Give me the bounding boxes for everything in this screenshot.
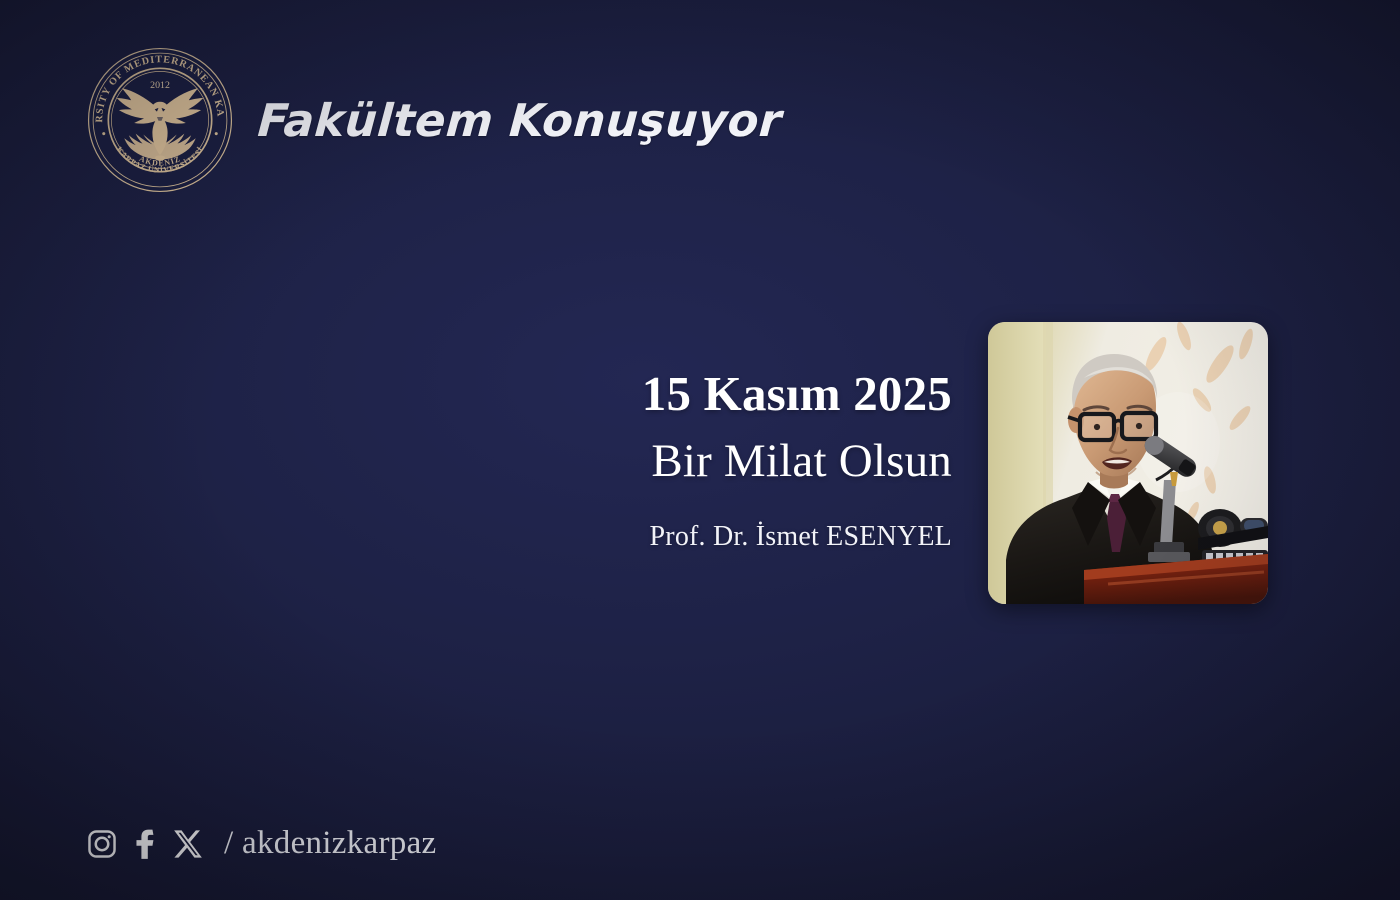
instagram-icon[interactable] (86, 828, 118, 860)
event-details: 15 Kasım 2025 Bir Milat Olsun Prof. Dr. … (300, 368, 952, 553)
x-twitter-icon[interactable] (172, 828, 204, 860)
facebook-icon[interactable] (131, 828, 159, 860)
program-title: Fakültem Konuşuyor (256, 94, 783, 147)
social-handle: / akdenizkarpaz (224, 825, 436, 862)
speaker-photo (988, 322, 1268, 604)
event-theme: Bir Milat Olsun (300, 435, 952, 488)
svg-text:2012: 2012 (150, 80, 170, 91)
brand-header: UNIVERSITY OF MEDITERRANEAN KARPASIA AKD… (84, 44, 782, 196)
event-speaker-name: Prof. Dr. İsmet ESENYEL (300, 520, 952, 554)
speaker-photo-image (988, 322, 1268, 604)
university-seal-logo: UNIVERSITY OF MEDITERRANEAN KARPASIA AKD… (84, 44, 236, 196)
poster-canvas: UNIVERSITY OF MEDITERRANEAN KARPASIA AKD… (0, 0, 1400, 900)
social-media-bar: / akdenizkarpaz (86, 825, 436, 862)
event-date: 15 Kasım 2025 (300, 368, 952, 421)
